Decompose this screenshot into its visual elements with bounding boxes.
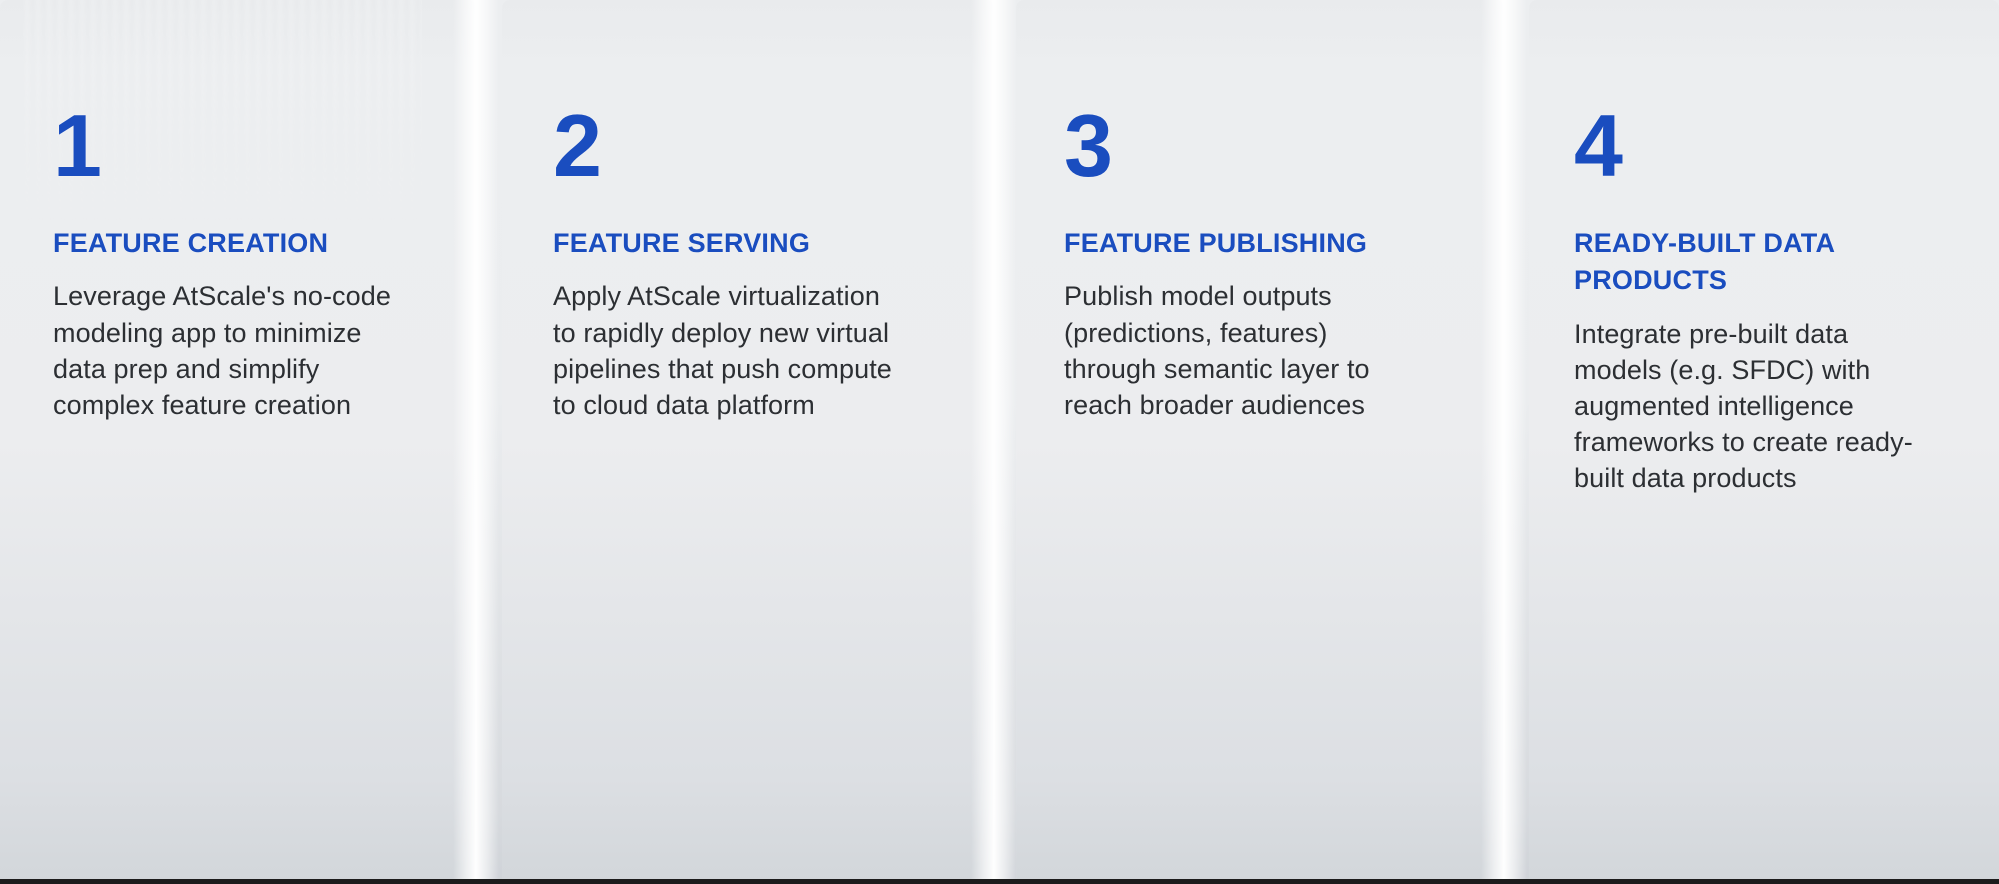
step-body-4: Integrate pre-built data models (e.g. SF…	[1574, 316, 1934, 497]
step-title-1: FEATURE CREATION	[53, 225, 383, 262]
step-body-3: Publish model outputs (predictions, feat…	[1064, 278, 1404, 423]
step-panel-1: 1 FEATURE CREATION Leverage AtScale's no…	[0, 0, 476, 884]
bottom-letterbox-bar	[0, 879, 1999, 884]
step-panel-3: 3 FEATURE PUBLISHING Publish model outpu…	[1016, 0, 1504, 884]
step-number-1: 1	[53, 106, 454, 185]
step-number-3: 3	[1064, 106, 1482, 185]
step-number-2: 2	[553, 106, 972, 185]
step-title-2: FEATURE SERVING	[553, 225, 883, 262]
step-title-4: READY-BUILT DATA PRODUCTS	[1574, 225, 1974, 300]
step-number-4: 4	[1574, 106, 1977, 185]
steps-panel-group: 1 FEATURE CREATION Leverage AtScale's no…	[0, 0, 1999, 884]
step-title-3: FEATURE PUBLISHING	[1064, 225, 1394, 262]
step-panel-4: 4 READY-BUILT DATA PRODUCTS Integrate pr…	[1529, 0, 1999, 884]
step-body-1: Leverage AtScale's no-code modeling app …	[53, 278, 393, 423]
step-body-2: Apply AtScale virtualization to rapidly …	[553, 278, 893, 423]
slide-canvas: 1 FEATURE CREATION Leverage AtScale's no…	[0, 0, 1999, 884]
step-panel-2: 2 FEATURE SERVING Apply AtScale virtuali…	[502, 0, 994, 884]
